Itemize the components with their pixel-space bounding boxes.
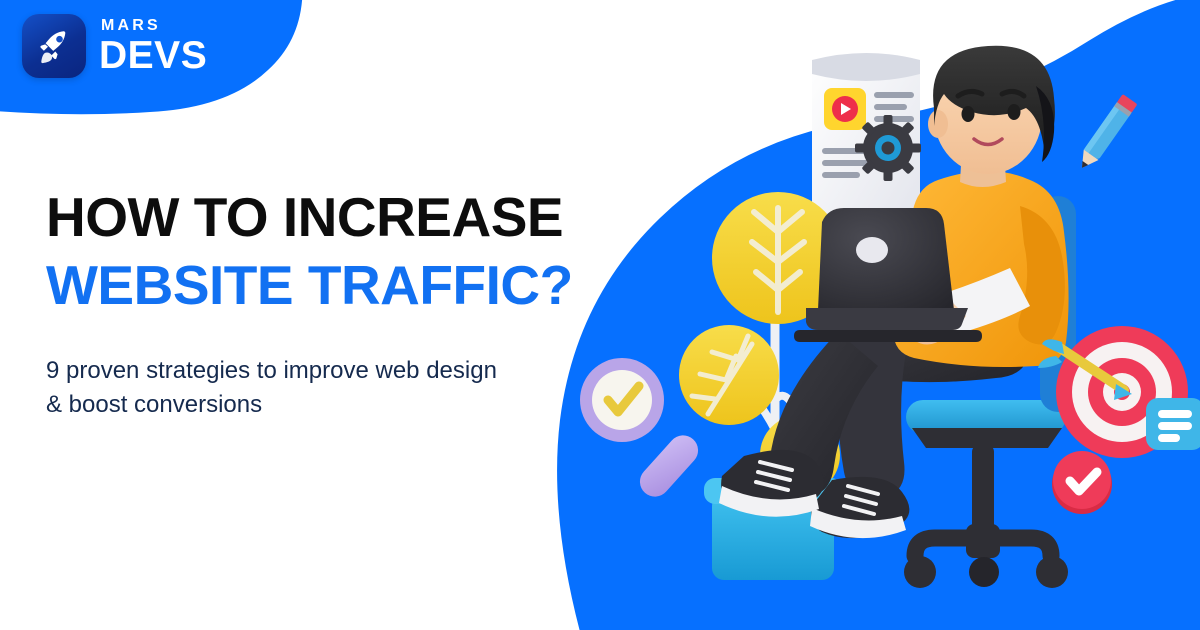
copy-block: HOW TO INCREASE WEBSITE TRAFFIC? 9 prove…	[46, 188, 586, 422]
hero-backdrop-blob	[557, 0, 1200, 630]
brand-wordmark: MARS DEVS	[99, 18, 207, 75]
subtitle: 9 proven strategies to improve web desig…	[46, 354, 516, 422]
brand-logo[interactable]: MARS DEVS	[22, 14, 207, 78]
poster-canvas: MARS DEVS HOW TO INCREASE WEBSITE TRAFFI…	[0, 0, 1200, 630]
rocket-glyph	[33, 25, 75, 67]
headline-line-2: WEBSITE TRAFFIC?	[46, 256, 586, 316]
brand-name-bottom: DEVS	[99, 36, 207, 75]
headline-line-1: HOW TO INCREASE	[46, 188, 586, 248]
rocket-icon	[22, 14, 86, 78]
brand-name-top: MARS	[101, 18, 207, 34]
